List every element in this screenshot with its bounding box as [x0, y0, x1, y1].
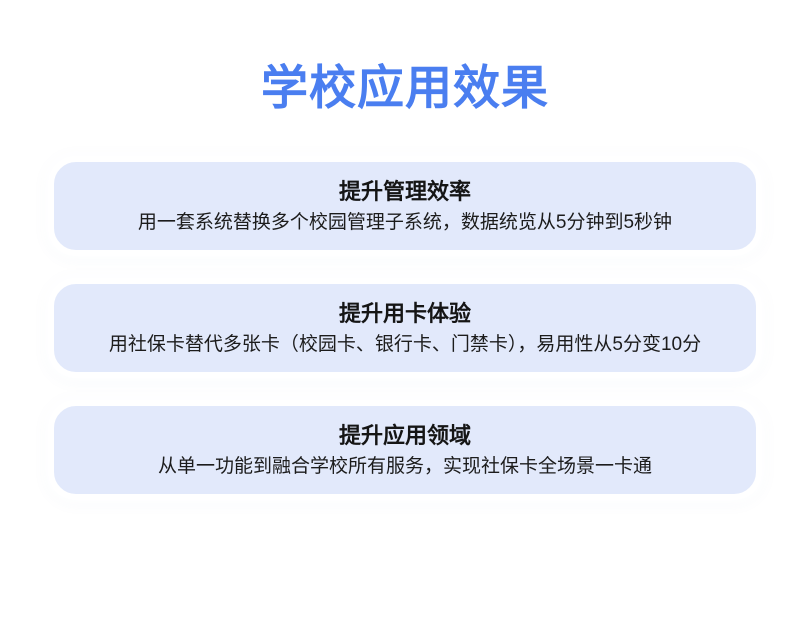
effect-card-application-scope: 提升应用领域 从单一功能到融合学校所有服务，实现社保卡全场景一卡通 [48, 400, 762, 500]
effect-card-heading: 提升管理效率 [339, 177, 471, 207]
effect-card-heading: 提升应用领域 [339, 421, 471, 451]
effect-card-heading: 提升用卡体验 [339, 299, 471, 329]
effect-card-card-experience: 提升用卡体验 用社保卡替代多张卡（校园卡、银行卡、门禁卡），易用性从5分变10分 [48, 278, 762, 378]
effect-card-body: 用社保卡替代多张卡（校园卡、银行卡、门禁卡），易用性从5分变10分 [109, 331, 701, 358]
effect-card-list: 提升管理效率 用一套系统替换多个校园管理子系统，数据统览从5分钟到5秒钟 提升用… [48, 156, 762, 500]
effect-card-body: 用一套系统替换多个校园管理子系统，数据统览从5分钟到5秒钟 [138, 209, 672, 236]
page-title: 学校应用效果 [0, 58, 810, 118]
effect-card-management-efficiency: 提升管理效率 用一套系统替换多个校园管理子系统，数据统览从5分钟到5秒钟 [48, 156, 762, 256]
school-application-effect-page: 学校应用效果 提升管理效率 用一套系统替换多个校园管理子系统，数据统览从5分钟到… [0, 0, 810, 622]
effect-card-body: 从单一功能到融合学校所有服务，实现社保卡全场景一卡通 [158, 453, 652, 480]
